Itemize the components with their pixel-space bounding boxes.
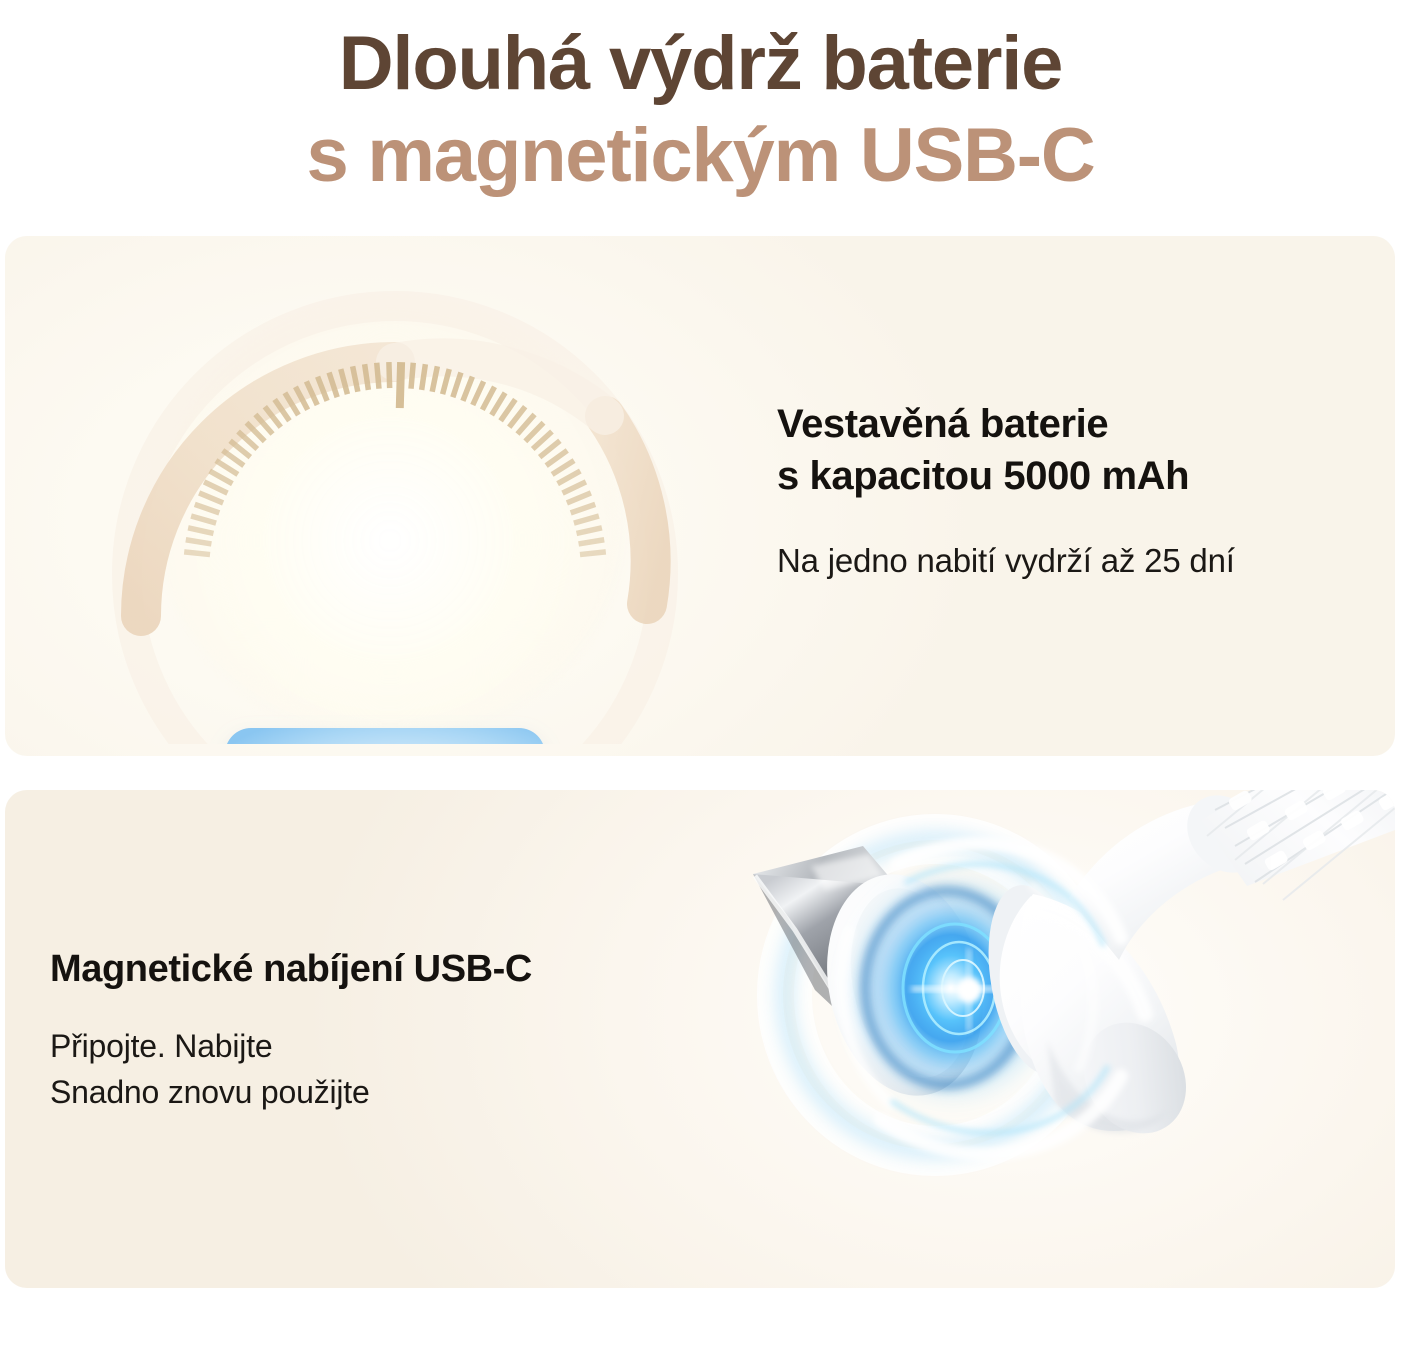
panel-2-heading: Magnetické nabíjení USB-C (50, 945, 710, 993)
gauge-tick (571, 504, 596, 513)
braided-cable (1201, 790, 1395, 900)
page-title-line-2: s magnetickým USB-C (0, 110, 1401, 202)
gauge-tick (411, 363, 413, 389)
gauge-tick (422, 364, 426, 390)
panel-1-heading-line-1: Vestavěná baterie (777, 398, 1357, 450)
panel-2-subtext-line-1: Připojte. Nabijte (50, 1023, 710, 1069)
panel-1-subtext: Na jedno nabití vydrží až 25 dní (777, 540, 1357, 582)
gauge-tick (580, 552, 606, 555)
page-title-line-1: Dlouhá výdrž baterie (0, 18, 1401, 110)
panel-1-heading-line-2: s kapacitou 5000 mAh (777, 450, 1357, 502)
panel-1-heading: Vestavěná baterie s kapacitou 5000 mAh (777, 398, 1357, 502)
gauge-tick (501, 399, 516, 420)
gauge-tick (191, 516, 216, 523)
gauge-tick (577, 528, 602, 534)
panel-2-subtext-line-2: Snadno znovu použijte (50, 1069, 710, 1115)
gauge-tick (186, 540, 212, 544)
gauge-tick (552, 461, 574, 475)
gauge-tick (574, 516, 599, 523)
connector-vector (635, 790, 1395, 1288)
gauge-tick (216, 461, 238, 475)
gauge-tick (492, 393, 506, 415)
panel-magnetic-charging: Magnetické nabíjení USB-C Připojte. Nabi… (5, 790, 1395, 1288)
gauge-tick (365, 364, 369, 390)
magnetic-usbc-connector-illustration (635, 790, 1395, 1288)
gauge-tick (482, 387, 494, 410)
gauge-tick (563, 482, 586, 493)
gauge-tick (199, 493, 223, 503)
gauge-tick (204, 482, 227, 493)
gauge-tick (195, 504, 220, 513)
gauge-vector (45, 244, 745, 744)
gauge-tick (389, 362, 390, 388)
panel-2-subtext: Připojte. Nabijte Snadno znovu použijte (50, 1023, 710, 1115)
gauge-tick (579, 540, 605, 544)
gauge-tick (377, 363, 379, 389)
panel-2-text-block: Magnetické nabíjení USB-C Připojte. Nabi… (50, 945, 710, 1115)
battery-icon (225, 728, 577, 744)
panel-battery-capacity: Vestavěná baterie s kapacitou 5000 mAh N… (5, 236, 1395, 756)
gauge-tick (567, 493, 591, 503)
gauge-tick (188, 528, 213, 534)
gauge-tick (463, 377, 472, 401)
page-title: Dlouhá výdrž baterie s magnetickým USB-C (0, 18, 1401, 202)
panel-1-text-block: Vestavěná baterie s kapacitou 5000 mAh N… (777, 398, 1357, 582)
gauge-tick (210, 471, 233, 484)
infographic-page: Dlouhá výdrž baterie s magnetickým USB-C (0, 0, 1401, 1365)
gauge-tick (473, 381, 484, 405)
gauge-tick (558, 471, 581, 484)
gauge-tick (184, 552, 210, 555)
gauge-major-tick (400, 362, 401, 408)
battery-gauge-illustration (45, 244, 745, 744)
